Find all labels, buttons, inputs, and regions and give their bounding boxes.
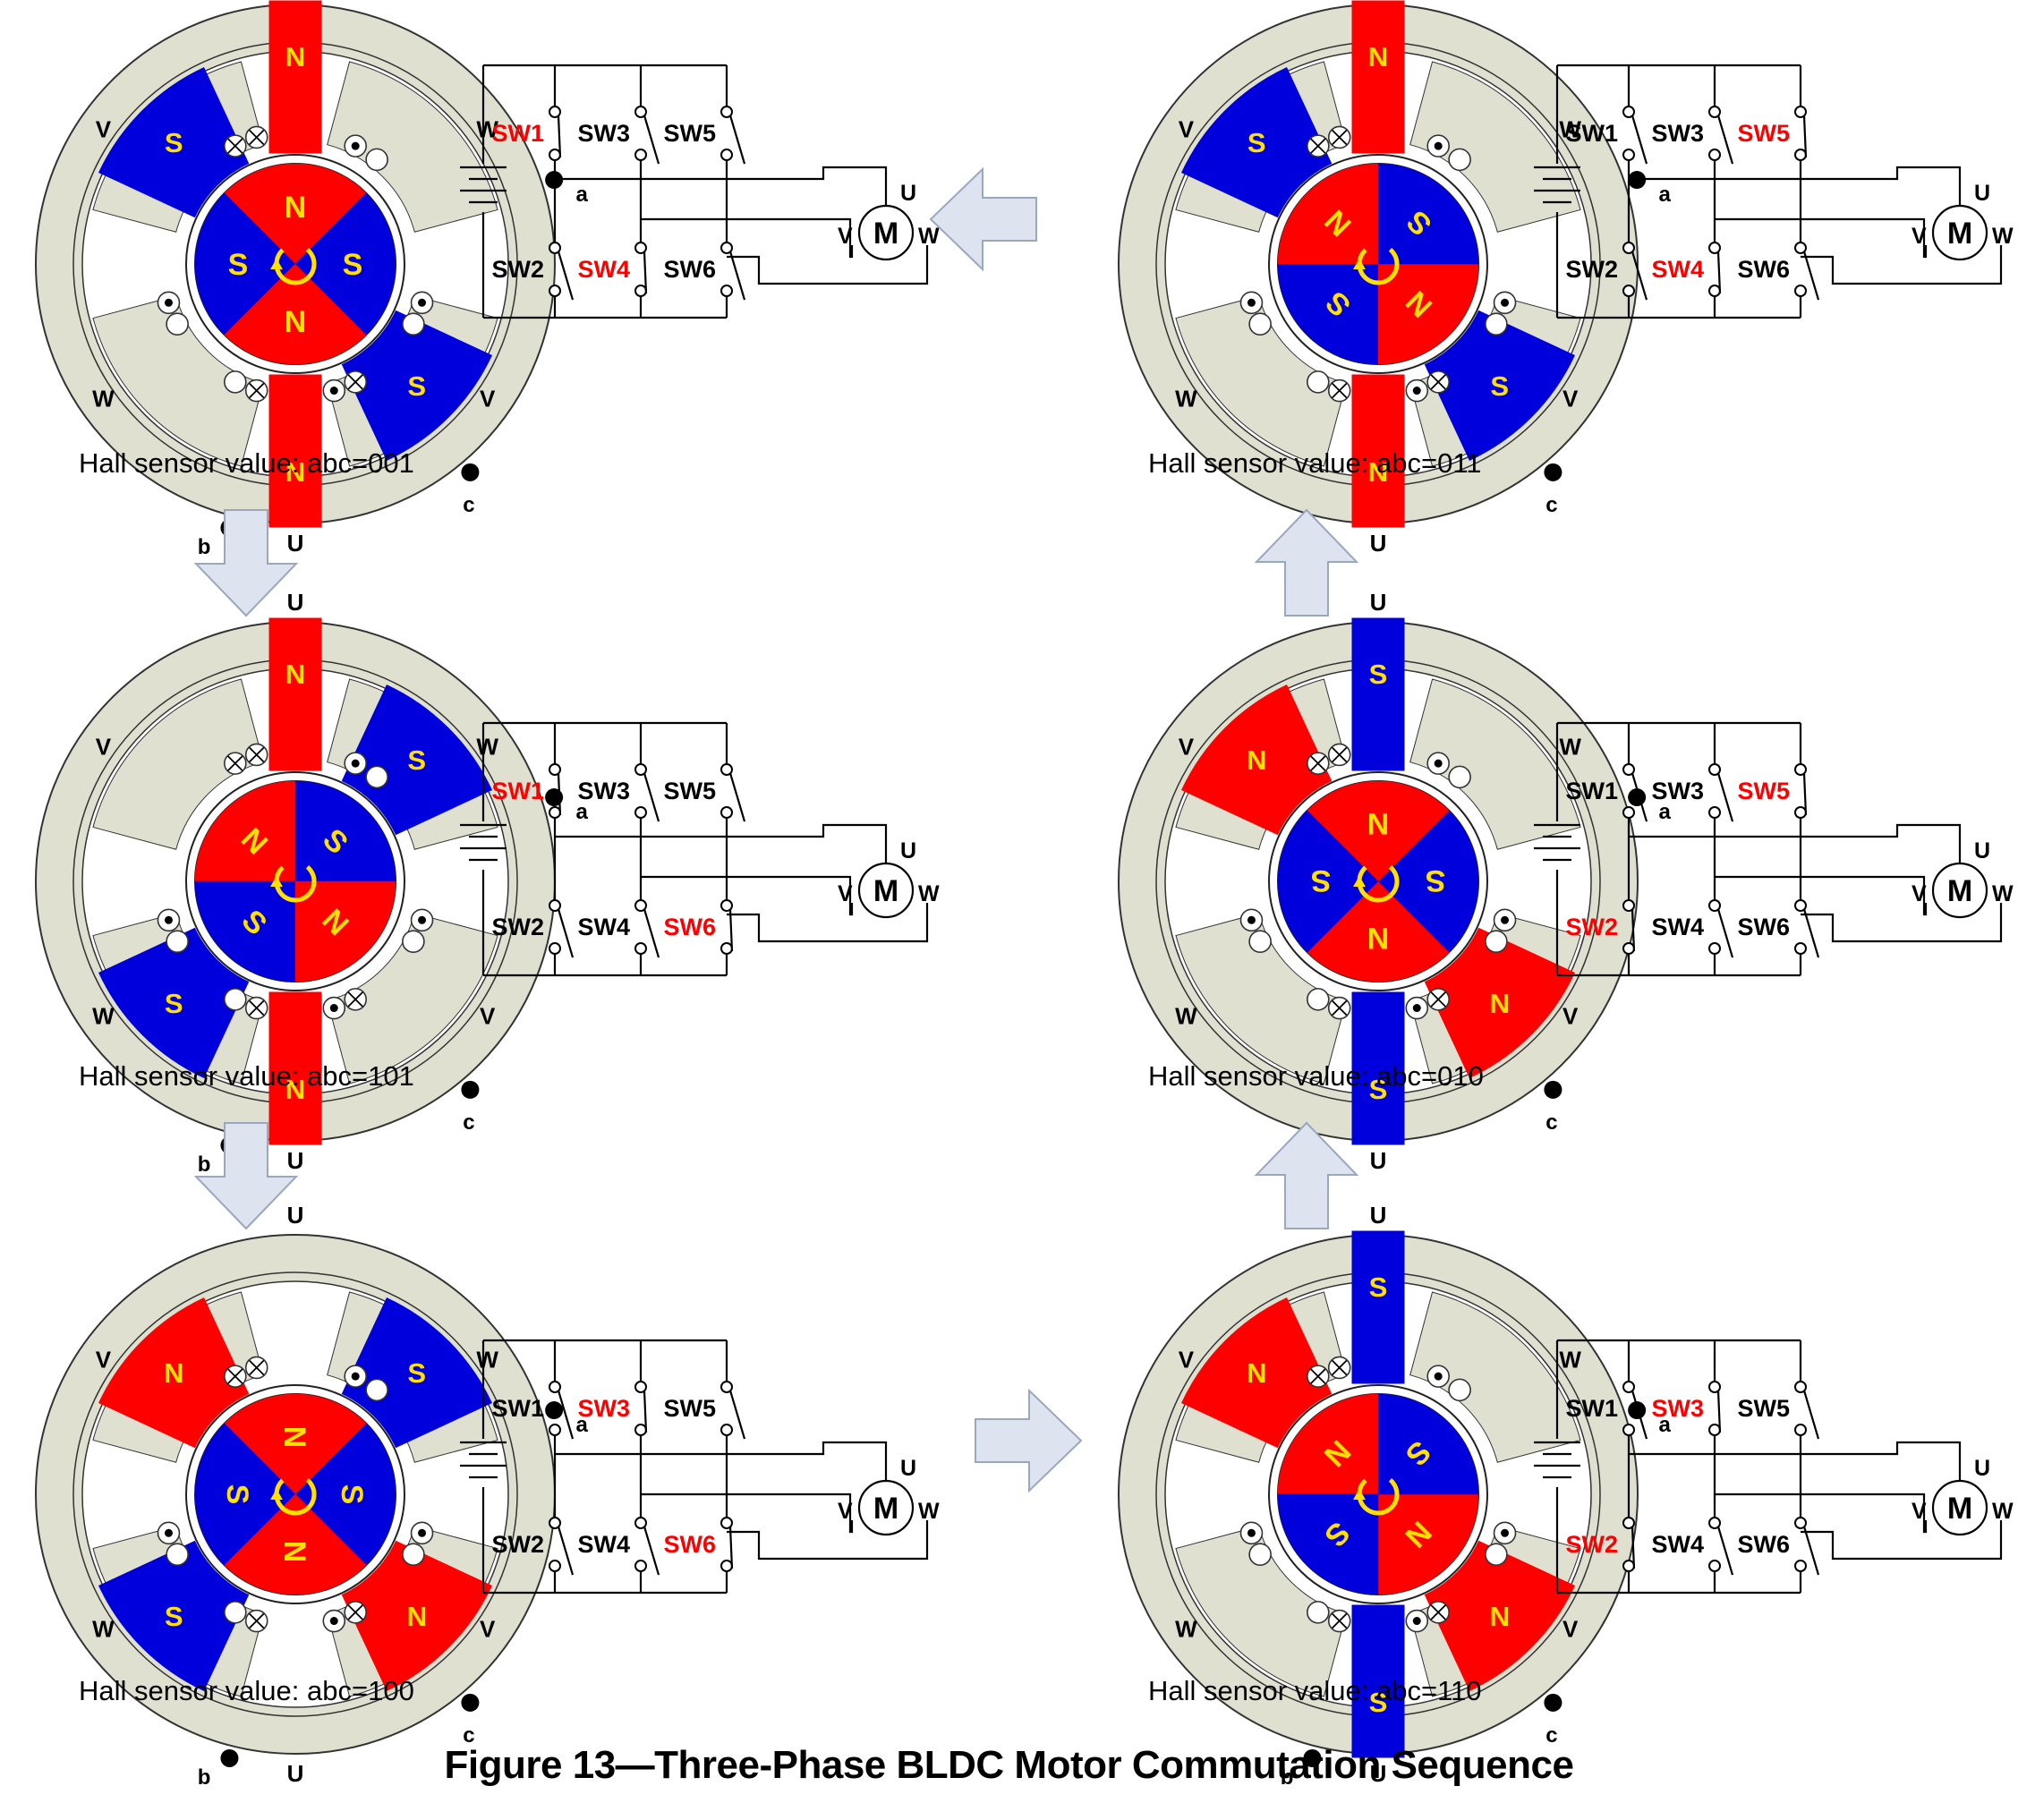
drive-circuit-101: SW1SW3SW5SW2SW4SW6MUVW	[465, 707, 966, 1002]
svg-text:W: W	[918, 881, 940, 906]
svg-text:M: M	[1947, 874, 1972, 908]
svg-text:N: N	[1247, 1357, 1266, 1389]
svg-text:SW3: SW3	[1651, 778, 1704, 804]
svg-text:W: W	[1175, 1002, 1197, 1029]
svg-text:N: N	[1368, 41, 1388, 72]
svg-text:M: M	[1947, 217, 1972, 251]
figure-title: Figure 13—Three-Phase BLDC Motor Commuta…	[0, 1743, 2018, 1788]
svg-text:SW4: SW4	[1651, 1531, 1704, 1558]
svg-text:SW4: SW4	[1651, 256, 1704, 283]
svg-text:V: V	[480, 1002, 496, 1029]
svg-text:SW6: SW6	[1737, 914, 1790, 940]
svg-text:S: S	[407, 370, 426, 402]
svg-text:N: N	[1367, 806, 1390, 840]
svg-text:U: U	[900, 181, 916, 206]
svg-text:SW6: SW6	[663, 256, 716, 283]
svg-text:S: S	[165, 127, 183, 158]
svg-text:W: W	[92, 1615, 115, 1642]
svg-text:U: U	[1370, 589, 1387, 616]
svg-text:SW5: SW5	[663, 778, 716, 804]
svg-text:SW6: SW6	[1737, 1531, 1790, 1558]
drive-circuit-110: SW1SW3SW5SW2SW4SW6MUVW	[1539, 1324, 2018, 1620]
hall-caption-001: Hall sensor value: abc=001	[79, 447, 414, 480]
svg-text:W: W	[1992, 224, 2014, 249]
svg-text:N: N	[277, 1426, 311, 1449]
hall-caption-010: Hall sensor value: abc=010	[1148, 1060, 1484, 1093]
svg-text:SW1: SW1	[1565, 1395, 1618, 1422]
svg-text:c: c	[1545, 1110, 1557, 1135]
svg-text:U: U	[1370, 530, 1387, 557]
svg-text:SW1: SW1	[491, 120, 544, 147]
svg-text:U: U	[1974, 838, 1990, 863]
svg-text:M: M	[873, 874, 898, 908]
svg-text:V: V	[1912, 881, 1927, 906]
svg-text:S: S	[1369, 659, 1388, 690]
svg-text:W: W	[1175, 385, 1197, 412]
svg-text:c: c	[1545, 493, 1557, 517]
svg-text:S: S	[1490, 370, 1509, 402]
svg-text:SW5: SW5	[663, 120, 716, 147]
svg-text:U: U	[1370, 1202, 1387, 1229]
svg-text:N: N	[277, 1541, 311, 1563]
hall-caption-101: Hall sensor value: abc=101	[79, 1060, 414, 1093]
svg-text:SW4: SW4	[577, 914, 630, 940]
svg-text:S: S	[407, 744, 426, 776]
svg-text:N: N	[285, 41, 305, 72]
svg-text:S: S	[335, 1484, 369, 1505]
svg-text:N: N	[1247, 744, 1266, 776]
svg-text:SW2: SW2	[491, 1531, 544, 1558]
svg-text:V: V	[1179, 1347, 1195, 1374]
svg-text:SW2: SW2	[491, 914, 544, 940]
svg-text:V: V	[1179, 734, 1195, 761]
svg-text:S: S	[165, 988, 183, 1019]
svg-text:SW1: SW1	[1565, 120, 1618, 147]
svg-text:M: M	[1947, 1492, 1972, 1526]
svg-text:V: V	[1912, 1499, 1927, 1524]
svg-text:S: S	[220, 1484, 254, 1505]
svg-text:N: N	[1490, 988, 1510, 1019]
svg-text:SW3: SW3	[1651, 1395, 1704, 1422]
svg-text:V: V	[96, 734, 112, 761]
drive-circuit-001: SW1SW3SW5SW2SW4SW6MUVW	[465, 49, 966, 344]
svg-text:W: W	[1175, 1615, 1197, 1642]
flow-arrow-up-2	[1253, 510, 1360, 617]
svg-text:U: U	[900, 838, 916, 863]
svg-text:N: N	[1490, 1601, 1510, 1632]
svg-text:V: V	[838, 881, 853, 906]
svg-text:V: V	[96, 116, 112, 143]
svg-text:V: V	[480, 385, 496, 412]
hall-caption-100: Hall sensor value: abc=100	[79, 1675, 414, 1707]
flow-arrow-left	[931, 166, 1038, 273]
svg-text:U: U	[900, 1456, 916, 1481]
svg-text:W: W	[1992, 881, 2014, 906]
svg-text:W: W	[92, 1002, 115, 1029]
svg-text:c: c	[463, 1110, 474, 1135]
svg-text:U: U	[1974, 181, 1990, 206]
flow-arrow-right	[975, 1387, 1083, 1494]
svg-text:SW3: SW3	[1651, 120, 1704, 147]
flow-arrow-down-1	[192, 510, 300, 617]
svg-text:SW2: SW2	[1565, 1531, 1618, 1558]
svg-text:SW2: SW2	[1565, 256, 1618, 283]
drive-circuit-011: SW1SW3SW5SW2SW4SW6MUVW	[1539, 49, 2018, 344]
svg-text:SW4: SW4	[577, 256, 630, 283]
svg-text:N: N	[164, 1357, 183, 1389]
svg-text:SW2: SW2	[1565, 914, 1618, 940]
svg-text:V: V	[838, 1499, 853, 1524]
svg-text:SW1: SW1	[1565, 778, 1618, 804]
svg-text:S: S	[343, 248, 363, 282]
svg-text:S: S	[1369, 1271, 1388, 1303]
svg-text:SW6: SW6	[1737, 256, 1790, 283]
svg-text:SW3: SW3	[577, 1395, 630, 1422]
flow-arrow-up-1	[1253, 1123, 1360, 1230]
svg-text:SW6: SW6	[663, 1531, 716, 1558]
svg-text:SW3: SW3	[577, 778, 630, 804]
svg-text:SW2: SW2	[491, 256, 544, 283]
svg-text:V: V	[1912, 224, 1927, 249]
svg-text:SW5: SW5	[1737, 778, 1790, 804]
svg-text:SW6: SW6	[663, 914, 716, 940]
svg-text:S: S	[1247, 127, 1266, 158]
svg-text:W: W	[92, 385, 115, 412]
svg-text:M: M	[873, 217, 898, 251]
svg-text:N: N	[285, 659, 305, 690]
svg-text:SW4: SW4	[1651, 914, 1704, 940]
svg-text:SW4: SW4	[577, 1531, 630, 1558]
hall-caption-011: Hall sensor value: abc=011	[1148, 447, 1482, 480]
svg-text:U: U	[1370, 1147, 1387, 1174]
svg-text:S: S	[165, 1601, 183, 1632]
svg-text:V: V	[838, 224, 853, 249]
svg-text:V: V	[1562, 1002, 1579, 1029]
svg-text:SW5: SW5	[1737, 1395, 1790, 1422]
svg-text:N: N	[285, 191, 307, 225]
drive-circuit-100: SW1SW3SW5SW2SW4SW6MUVW	[465, 1324, 966, 1620]
svg-text:SW5: SW5	[663, 1395, 716, 1422]
svg-text:c: c	[463, 493, 474, 517]
svg-text:V: V	[1179, 116, 1195, 143]
svg-text:W: W	[918, 1499, 940, 1524]
svg-text:V: V	[1562, 385, 1579, 412]
svg-text:SW1: SW1	[491, 1395, 544, 1422]
flow-arrow-down-2	[192, 1123, 300, 1230]
svg-text:N: N	[285, 305, 307, 339]
svg-text:SW1: SW1	[491, 778, 544, 804]
svg-text:S: S	[1311, 863, 1332, 897]
svg-text:U: U	[1974, 1456, 1990, 1481]
svg-text:S: S	[407, 1357, 426, 1389]
svg-text:N: N	[407, 1601, 427, 1632]
svg-text:M: M	[873, 1492, 898, 1526]
svg-text:SW3: SW3	[577, 120, 630, 147]
hall-caption-110: Hall sensor value: abc=110	[1148, 1675, 1482, 1707]
svg-text:S: S	[228, 248, 249, 282]
svg-text:W: W	[1992, 1499, 2014, 1524]
svg-text:SW5: SW5	[1737, 120, 1790, 147]
svg-text:V: V	[96, 1347, 112, 1374]
svg-text:N: N	[1367, 921, 1390, 955]
svg-text:S: S	[1426, 863, 1446, 897]
drive-circuit-010: SW1SW3SW5SW2SW4SW6MUVW	[1539, 707, 2018, 1002]
